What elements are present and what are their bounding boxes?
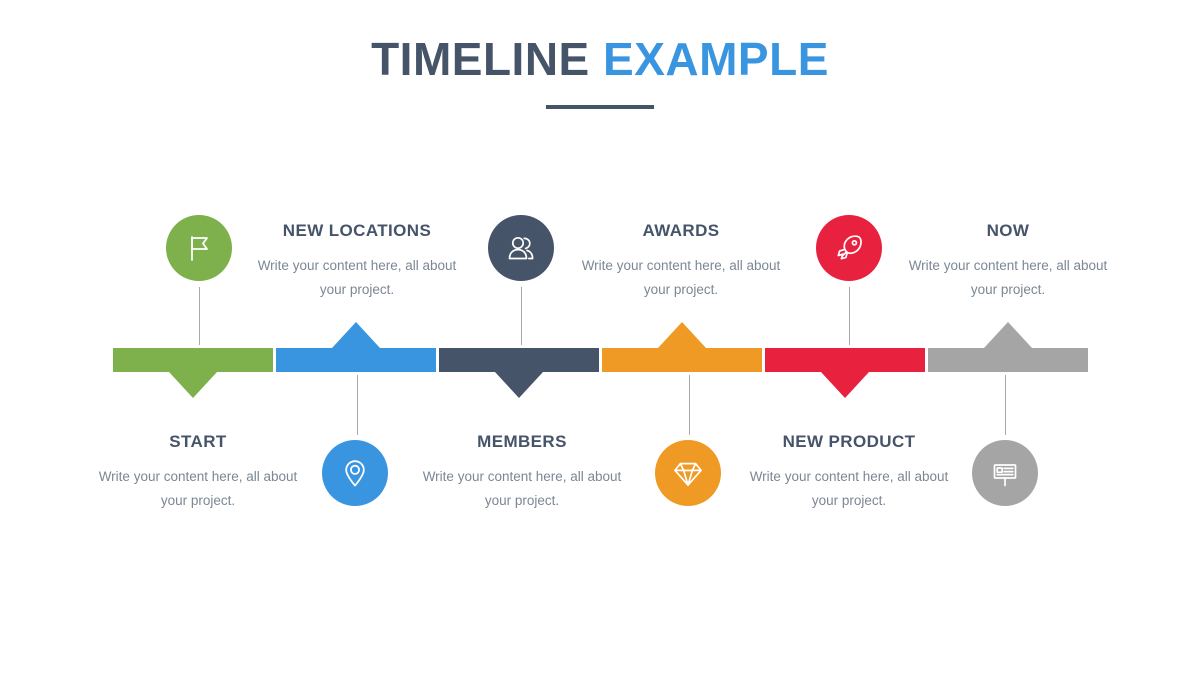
flag-icon — [183, 232, 215, 264]
milestone-text-awards: AWARDS Write your content here, all abou… — [571, 221, 791, 303]
connector-stem-new-locations — [357, 375, 358, 435]
segment-arrow-up-new-locations — [332, 322, 380, 348]
map-pin-icon — [339, 457, 371, 489]
segment-body-new-product — [765, 348, 925, 372]
signboard-icon — [989, 457, 1021, 489]
milestone-label-start: START — [88, 432, 308, 452]
milestone-body-new-locations: Write your content here, all about your … — [247, 254, 467, 303]
milestone-text-now: NOW Write your content here, all about y… — [898, 221, 1118, 303]
connector-stem-new-product — [849, 287, 850, 345]
segment-arrow-down-new-product — [821, 372, 869, 398]
milestone-text-members: MEMBERS Write your content here, all abo… — [412, 432, 632, 514]
milestone-body-awards: Write your content here, all about your … — [571, 254, 791, 303]
milestone-body-members: Write your content here, all about your … — [412, 465, 632, 514]
milestone-text-start: START Write your content here, all about… — [88, 432, 308, 514]
milestone-label-new-product: NEW PRODUCT — [739, 432, 959, 452]
milestone-label-now: NOW — [898, 221, 1118, 241]
milestone-circle-start[interactable] — [166, 215, 232, 281]
segment-body-new-locations — [276, 348, 436, 372]
timeline-segment-start[interactable] — [113, 348, 273, 372]
milestone-label-awards: AWARDS — [571, 221, 791, 241]
timeline-segment-new-locations[interactable] — [276, 348, 436, 372]
segment-body-now — [928, 348, 1088, 372]
milestone-circle-now[interactable] — [972, 440, 1038, 506]
timeline-segment-awards[interactable] — [602, 348, 762, 372]
segment-arrow-up-awards — [658, 322, 706, 348]
connector-stem-awards — [689, 375, 690, 435]
milestone-text-new-locations: NEW LOCATIONS Write your content here, a… — [247, 221, 467, 303]
milestone-circle-new-product[interactable] — [816, 215, 882, 281]
segment-arrow-up-now — [984, 322, 1032, 348]
milestone-body-new-product: Write your content here, all about your … — [739, 465, 959, 514]
timeline-diagram: NEW LOCATIONS Write your content here, a… — [0, 0, 1200, 675]
milestone-label-new-locations: NEW LOCATIONS — [247, 221, 467, 241]
milestone-text-new-product: NEW PRODUCT Write your content here, all… — [739, 432, 959, 514]
segment-body-start — [113, 348, 273, 372]
connector-stem-now — [1005, 375, 1006, 435]
milestone-body-now: Write your content here, all about your … — [898, 254, 1118, 303]
milestone-circle-members[interactable] — [488, 215, 554, 281]
timeline-bar — [113, 348, 1088, 372]
timeline-segment-members[interactable] — [439, 348, 599, 372]
connector-stem-start — [199, 287, 200, 345]
milestone-body-start: Write your content here, all about your … — [88, 465, 308, 514]
users-icon — [505, 232, 537, 264]
milestone-circle-awards[interactable] — [655, 440, 721, 506]
segment-body-awards — [602, 348, 762, 372]
milestone-circle-new-locations[interactable] — [322, 440, 388, 506]
milestone-label-members: MEMBERS — [412, 432, 632, 452]
timeline-segment-now[interactable] — [928, 348, 1088, 372]
segment-arrow-down-members — [495, 372, 543, 398]
timeline-segment-new-product[interactable] — [765, 348, 925, 372]
rocket-icon — [833, 232, 865, 264]
diamond-icon — [672, 457, 704, 489]
segment-arrow-down-start — [169, 372, 217, 398]
segment-body-members — [439, 348, 599, 372]
connector-stem-members — [521, 287, 522, 345]
